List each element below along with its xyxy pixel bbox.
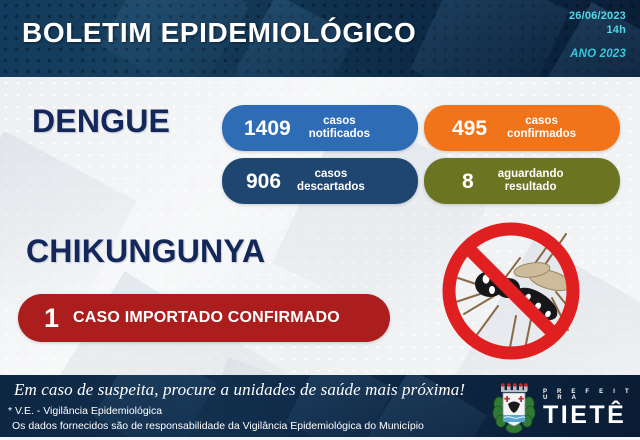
chikungunya-section-title: CHIKUNGUNYA bbox=[26, 233, 265, 270]
dengue-section-title: DENGUE bbox=[32, 103, 170, 140]
header-meta: 26/06/2023 14h ANO 2023 bbox=[569, 10, 626, 61]
stat-pill-chikungunya: 1 CASO IMPORTADO CONFIRMADO bbox=[18, 294, 390, 342]
no-mosquito-icon bbox=[428, 218, 594, 368]
stat-label-chikungunya: CASO IMPORTADO CONFIRMADO bbox=[73, 309, 340, 327]
stat-pill-notificados: 1409 casos notificados bbox=[222, 105, 418, 151]
stat-label-notificados: casos notificados bbox=[309, 115, 370, 141]
page-title: BOLETIM EPIDEMIOLÓGICO bbox=[22, 17, 416, 49]
stat-value-confirmados: 495 bbox=[452, 118, 487, 139]
header: BOLETIM EPIDEMIOLÓGICO 26/06/2023 14h AN… bbox=[0, 0, 640, 77]
footer-note-responsibility: Os dados fornecidos são de responsabilid… bbox=[12, 420, 424, 432]
footer-call-to-action: Em caso de suspeita, procure a unidades … bbox=[14, 380, 465, 400]
footer-note-ve: * V.E. - Vigilância Epidemiológica bbox=[8, 405, 162, 417]
stat-pill-descartados: 906 casos descartados bbox=[222, 158, 418, 204]
stat-value-chikungunya: 1 bbox=[44, 305, 59, 332]
stat-label-descartados: casos descartados bbox=[297, 168, 365, 194]
prefeitura-logo: P R E F E I T U R A TIETÊ bbox=[492, 379, 634, 437]
stat-value-descartados: 906 bbox=[246, 171, 281, 192]
bulletin-date: 26/06/2023 bbox=[569, 10, 626, 24]
stat-pill-aguardando: 8 aguardando resultado bbox=[424, 158, 620, 204]
stat-value-aguardando: 8 bbox=[462, 171, 474, 192]
coat-of-arms-icon bbox=[492, 382, 536, 434]
epidemiological-bulletin: BOLETIM EPIDEMIOLÓGICO 26/06/2023 14h AN… bbox=[0, 0, 640, 440]
header-decoration bbox=[410, 0, 569, 77]
logo-prefeitura-label: P R E F E I T U R A bbox=[543, 389, 634, 401]
bulletin-year: ANO 2023 bbox=[569, 47, 626, 61]
stat-pill-confirmados: 495 casos confirmados bbox=[424, 105, 620, 151]
logo-city-name: TIETÊ bbox=[543, 403, 634, 428]
logo-text: P R E F E I T U R A TIETÊ bbox=[543, 389, 634, 428]
stat-label-aguardando: aguardando resultado bbox=[498, 168, 564, 194]
bulletin-time: 14h bbox=[569, 24, 626, 38]
stat-value-notificados: 1409 bbox=[244, 118, 291, 139]
stat-label-confirmados: casos confirmados bbox=[507, 115, 576, 141]
